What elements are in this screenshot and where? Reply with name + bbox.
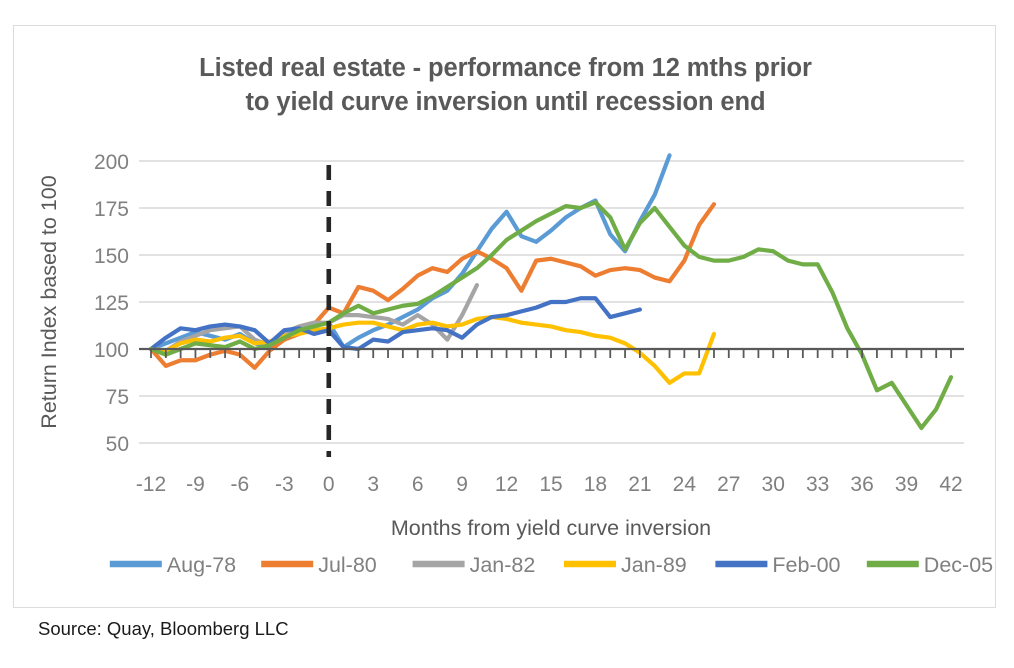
x-axis-title: Months from yield curve inversion [391, 516, 711, 540]
x-tick-label-39: 39 [895, 473, 918, 496]
x-tick-label-27: 27 [717, 473, 740, 496]
figure-container: Listed real estate - performance from 12… [0, 0, 1014, 668]
x-tick-label-42: 42 [939, 473, 962, 496]
y-tick-label-200: 200 [94, 151, 129, 174]
x-tick-label--9: -9 [186, 473, 205, 496]
legend-label-jul-80[interactable]: Jul-80 [318, 553, 377, 577]
x-tick-labels: -12-9-6-303691215182124273033363942 [136, 473, 963, 496]
series-line-dec-05 [151, 202, 951, 428]
source-note: Source: Quay, Bloomberg LLC [38, 618, 289, 640]
x-tick-label--6: -6 [231, 473, 250, 496]
y-axis-title: Return Index based to 100 [37, 175, 61, 428]
legend-label-dec-05[interactable]: Dec-05 [924, 553, 993, 577]
x-tick-label-33: 33 [806, 473, 829, 496]
y-tick-label-100: 100 [94, 339, 129, 362]
y-tick-label-175: 175 [94, 198, 129, 221]
x-tick-label-21: 21 [628, 473, 651, 496]
x-tick-label-15: 15 [539, 473, 562, 496]
y-tick-label-50: 50 [106, 433, 129, 456]
legend-label-aug-78[interactable]: Aug-78 [167, 553, 236, 577]
x-tick-label-0: 0 [323, 473, 335, 496]
y-tick-labels: 2001751501251007550 [94, 151, 129, 456]
y-tick-label-150: 150 [94, 245, 129, 268]
legend-label-jan-82[interactable]: Jan-82 [470, 553, 536, 577]
x-tick-label-30: 30 [762, 473, 785, 496]
x-tick-label-36: 36 [850, 473, 873, 496]
x-tick-label--12: -12 [136, 473, 166, 496]
x-tick-label-6: 6 [412, 473, 424, 496]
y-tick-label-125: 125 [94, 292, 129, 315]
legend-label-feb-00[interactable]: Feb-00 [772, 553, 840, 577]
x-tick-label-24: 24 [673, 473, 697, 496]
x-tick-label-9: 9 [456, 473, 468, 496]
chart-plot: 2001751501251007550 -12-9-6-303691215182… [14, 26, 997, 609]
x-tick-label--3: -3 [275, 473, 294, 496]
x-tick-label-3: 3 [367, 473, 379, 496]
chart-legend: Aug-78Jul-80Jan-82Jan-89Feb-00Dec-05 [110, 553, 993, 577]
x-tick-label-12: 12 [495, 473, 518, 496]
chart-frame: Listed real estate - performance from 12… [13, 25, 996, 608]
y-tick-label-75: 75 [106, 386, 129, 409]
legend-label-jan-89[interactable]: Jan-89 [621, 553, 687, 577]
series-lines [151, 155, 951, 428]
x-tick-label-18: 18 [584, 473, 607, 496]
